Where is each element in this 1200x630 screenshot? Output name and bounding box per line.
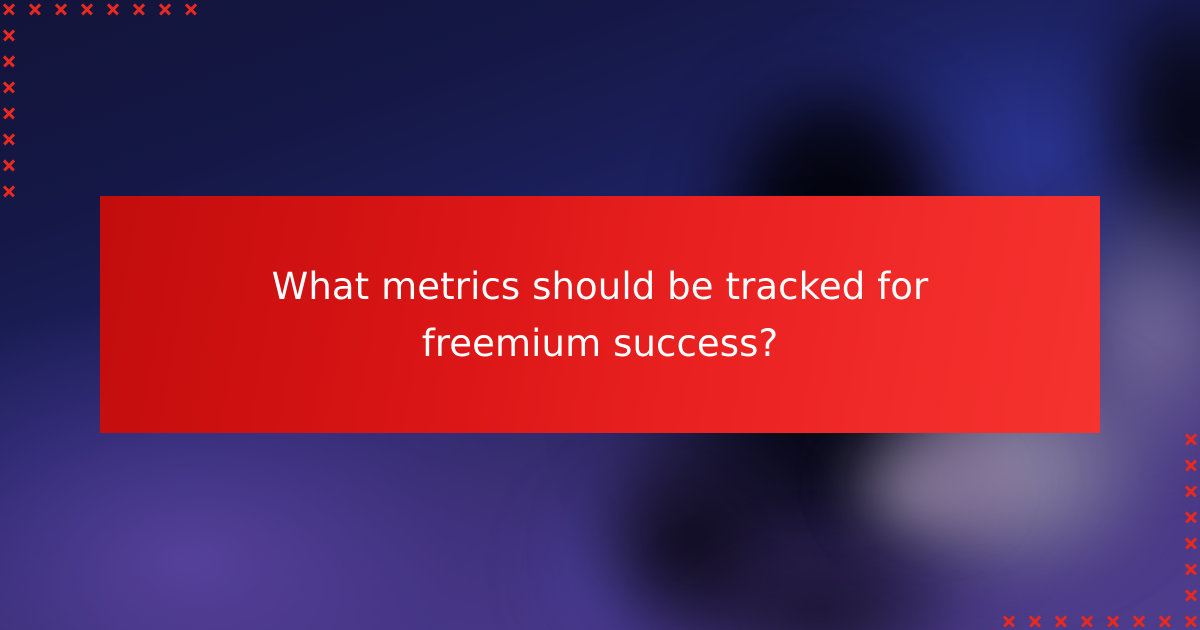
background-figure-magenta-tint bbox=[880, 420, 1050, 540]
background-dark-arm-lower bbox=[660, 540, 980, 630]
social-share-card: What metrics should be tracked for freem… bbox=[0, 0, 1200, 630]
question-title: What metrics should be tracked for freem… bbox=[205, 258, 995, 372]
question-banner: What metrics should be tracked for freem… bbox=[100, 196, 1100, 433]
